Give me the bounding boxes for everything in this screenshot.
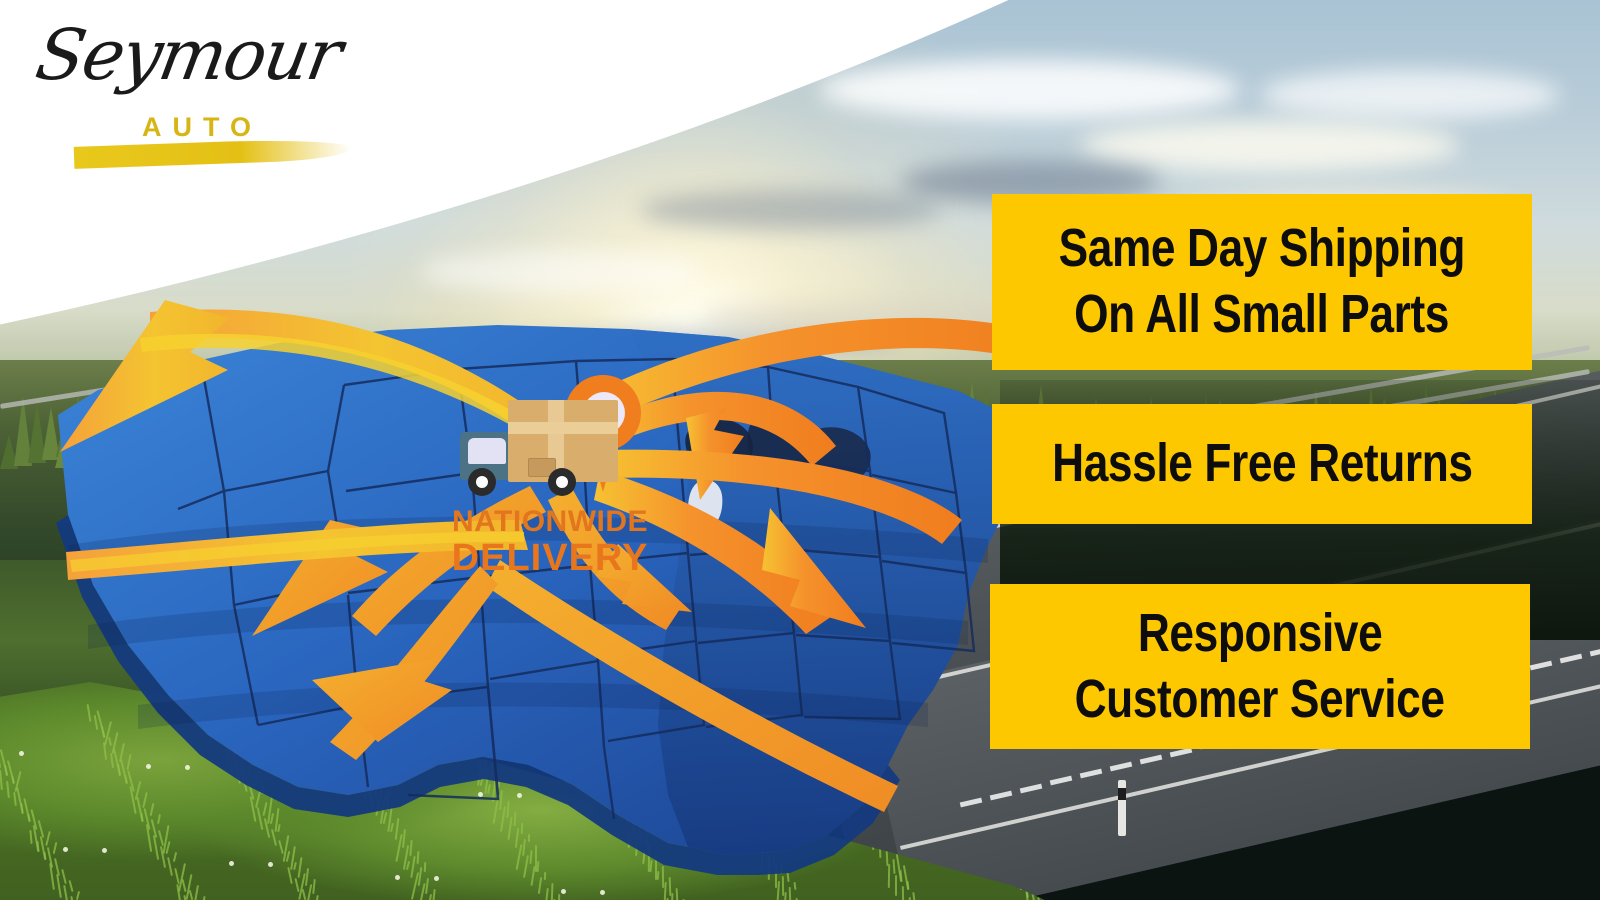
grass-blade [302,889,307,900]
grass-blade [676,888,679,900]
callout-line-2: Customer Service [1075,667,1445,733]
grass-blade [312,879,316,894]
callout-line-1: Responsive [1138,601,1382,667]
cloud [820,60,1240,120]
grass-blade [306,884,313,900]
grass-blade [538,877,542,894]
grass-blade [20,803,24,814]
truck-wheel [548,468,576,496]
grass-blade [189,890,194,900]
grass-blade [63,885,69,900]
truck-window [468,438,506,464]
callout-line-2: On All Small Parts [1075,282,1450,348]
brand-logo[interactable]: Seymour AUTO [34,14,344,174]
nationwide-delivery-badge: NATIONWIDE DELIVERY [450,370,650,580]
logo-sub-name: AUTO [142,112,262,143]
grass-blade [426,894,432,900]
grass-blade [895,875,897,896]
grass-blade [181,879,186,892]
grass-blade [56,874,62,898]
grass-blade [6,781,10,798]
grass-blade [912,892,917,900]
cloud [640,190,940,230]
wildflower [561,889,566,894]
wildflower [19,751,24,756]
callout-responsive-customer-service[interactable]: Responsive Customer Service [990,584,1530,749]
nationwide-label: NATIONWIDE [430,505,670,539]
wildflower [395,875,400,880]
grass-blade [68,880,73,892]
grass-blade [4,765,8,776]
grass-blade [551,883,554,900]
eastern-states-region [628,329,1020,855]
promo-banner: Seymour AUTO [0,0,1600,900]
grass-blade [432,889,435,900]
grass-blade [193,885,199,900]
cloud [1080,120,1460,172]
callout-hassle-free-returns[interactable]: Hassle Free Returns [992,404,1532,524]
grass-blade [76,891,80,900]
cloud [420,250,700,294]
box-tape-horizontal [508,422,618,434]
grass-blade [70,896,75,900]
callout-line-1: Hassle Free Returns [1052,434,1472,493]
grass-blade [558,894,560,900]
grass-blade [313,895,319,900]
callout-line-1: Same Day Shipping [1059,216,1465,282]
callout-same-day-shipping[interactable]: Same Day Shipping On All Small Parts [992,194,1532,370]
grass-blade [425,878,429,894]
grass-blade [671,893,674,900]
grass-blade [13,792,17,806]
grass-blade [902,886,904,900]
grass-blade [794,882,797,890]
grass-blade [545,888,549,900]
grass-blade [783,892,786,900]
delivery-label: DELIVERY [430,537,670,580]
grass-blade [907,881,910,890]
grass-blade [789,887,792,900]
wildflower [434,876,439,881]
cloud [1260,70,1560,120]
road-marker-band [1118,788,1126,800]
truck-wheel [468,468,496,496]
grass-blade [0,770,3,790]
grass-blade [200,896,205,900]
wildflower [600,890,605,895]
grass-blade [294,878,299,892]
